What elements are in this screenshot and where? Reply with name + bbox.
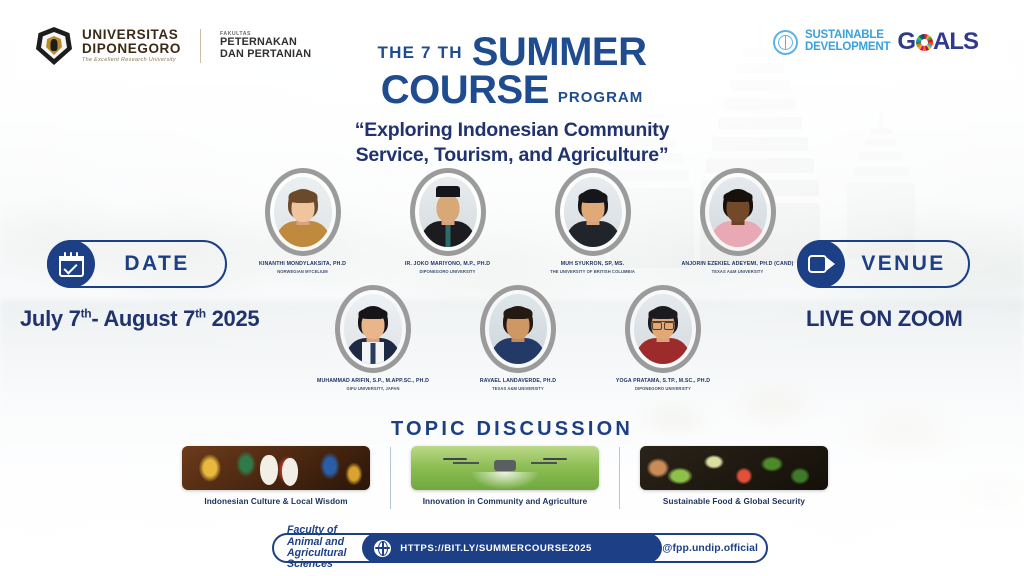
footer-faculty-name: Faculty of Animal and Agricultural Scien…: [274, 525, 364, 571]
speaker-card: IR. JOKO MARIYONO, M.P., PH.D DIPONEGORO…: [390, 168, 506, 274]
speaker-card: MUH SYUKRON, SP, MS. THE UNIVERSITY OF B…: [535, 168, 651, 274]
title-program: PROGRAM: [558, 89, 643, 106]
topic-caption: Innovation in Community and Agriculture: [405, 497, 605, 506]
footer-bar: Faculty of Animal and Agricultural Scien…: [272, 533, 768, 563]
poster-title-block: THE 7 THSUMMER COURSEPROGRAM “Exploring …: [0, 30, 1024, 168]
fresh-vegetables-photo: [640, 446, 828, 490]
speaker-org: NORWEGIAN MYCELIUM: [245, 269, 361, 274]
speaker-org: DIPONEGORO UNIVERSITY: [605, 386, 721, 391]
globe-icon: [374, 540, 391, 557]
avatar: [489, 294, 547, 364]
summer-course-poster: UNIVERSITAS DIPONEGORO The Excellent Res…: [0, 0, 1024, 576]
agriculture-drone-photo: [411, 446, 599, 490]
title-quote-line2: Service, Tourism, and Agriculture”: [0, 143, 1024, 168]
title-course: COURSE: [381, 68, 549, 112]
footer-url-button[interactable]: HTTPS://BIT.LY/SUMMERCOURSE2025: [362, 533, 662, 563]
speakers-section: KINANTHI MONDYLAKSITA, PH.D NORWEGIAN MY…: [0, 168, 1024, 391]
speaker-card: RAVAEL LANDAVERDE, PH.D TEXAS A&M UNIVER…: [460, 285, 576, 391]
topic-discussion-title: TOPIC DISCUSSION: [0, 418, 1024, 441]
speaker-name: RAVAEL LANDAVERDE, PH.D: [460, 378, 576, 385]
speaker-org: THE UNIVERSITY OF BRITISH COLUMBIA: [535, 269, 651, 274]
speaker-name: YOGA PRATAMA, S.TP., M.SC., PH.D: [605, 378, 721, 385]
speaker-photo-ring: [410, 168, 486, 256]
speaker-name: MUHAMMAD ARIFIN, S.P., M.APP.SC., PH.D: [315, 378, 431, 385]
topic-item: Innovation in Community and Agriculture: [405, 446, 605, 506]
speaker-name: IR. JOKO MARIYONO, M.P., PH.D: [390, 261, 506, 268]
speakers-row-2: MUHAMMAD ARIFIN, S.P., M.APP.SC., PH.D G…: [0, 285, 1024, 391]
speakers-row-1: KINANTHI MONDYLAKSITA, PH.D NORWEGIAN MY…: [0, 168, 1024, 274]
footer-faculty-line2: Agricultural Sciences: [287, 548, 364, 571]
topic-divider: [619, 447, 620, 509]
speaker-card: KINANTHI MONDYLAKSITA, PH.D NORWEGIAN MY…: [245, 168, 361, 274]
avatar: [344, 294, 402, 364]
avatar: [709, 177, 767, 247]
topic-divider: [390, 447, 391, 509]
balinese-masks-photo: [182, 446, 370, 490]
footer-faculty-line1: Faculty of Animal and: [287, 525, 364, 548]
speaker-org: TEXAS A&M UNIVERSITY: [680, 269, 796, 274]
topic-caption: Indonesian Culture & Local Wisdom: [176, 497, 376, 506]
title-quote-line1: “Exploring Indonesian Community: [0, 118, 1024, 143]
speaker-photo-ring: [700, 168, 776, 256]
speaker-card: MUHAMMAD ARIFIN, S.P., M.APP.SC., PH.D G…: [315, 285, 431, 391]
speaker-photo-ring: [625, 285, 701, 373]
speaker-photo-ring: [265, 168, 341, 256]
topic-discussion-list: Indonesian Culture & Local Wisdom Innova…: [176, 446, 848, 509]
avatar: [634, 294, 692, 364]
speaker-photo-ring: [335, 285, 411, 373]
speaker-card: YOGA PRATAMA, S.TP., M.SC., PH.D DIPONEG…: [605, 285, 721, 391]
avatar: [564, 177, 622, 247]
topic-caption: Sustainable Food & Global Security: [634, 497, 834, 506]
speaker-org: GIFU UNIVERSITY, JAPAN: [315, 386, 431, 391]
speaker-photo-ring: [555, 168, 631, 256]
speaker-name: KINANTHI MONDYLAKSITA, PH.D: [245, 261, 361, 268]
avatar: [274, 177, 332, 247]
speaker-card: ANJORIN EZEKIEL ADEYEMI, PH.D (CAND) TEX…: [680, 168, 796, 274]
speaker-org: DIPONEGORO UNIVERSITY: [390, 269, 506, 274]
footer-url-text: HTTPS://BIT.LY/SUMMERCOURSE2025: [400, 543, 592, 554]
topic-item: Sustainable Food & Global Security: [634, 446, 834, 506]
speaker-name: ANJORIN EZEKIEL ADEYEMI, PH.D (CAND): [680, 261, 796, 268]
speaker-photo-ring: [480, 285, 556, 373]
avatar: [419, 177, 477, 247]
topic-item: Indonesian Culture & Local Wisdom: [176, 446, 376, 506]
title-the-7th: THE 7 TH: [378, 43, 463, 62]
speaker-name: MUH SYUKRON, SP, MS.: [535, 261, 651, 268]
speaker-org: TEXAS A&M UNIVERSITY: [460, 386, 576, 391]
footer-instagram-handle[interactable]: @fpp.undip.official: [662, 543, 766, 554]
